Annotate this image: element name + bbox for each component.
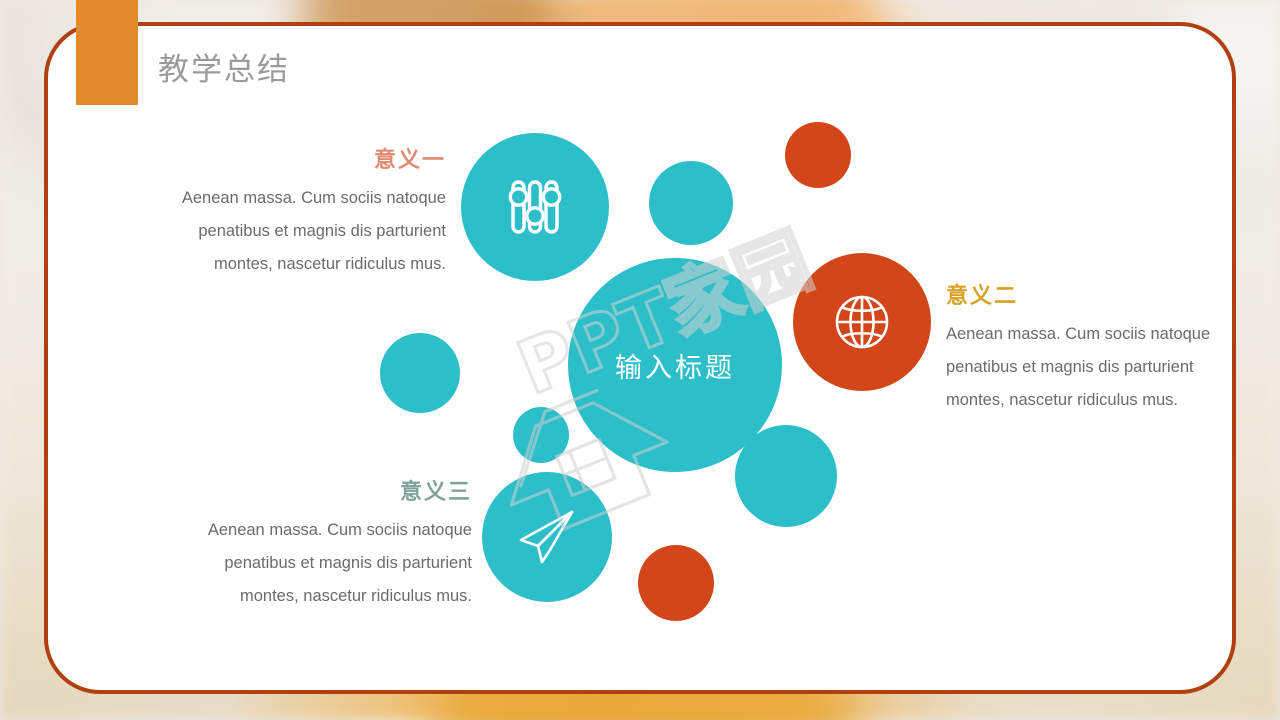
page-title: 教学总结 — [158, 44, 290, 89]
meaning-one-body: Aenean massa. Cum sociis natoque penatib… — [150, 182, 446, 281]
meaning-three-line-3: montes, nascetur ridiculus mus. — [176, 580, 472, 613]
globe-icon-circle[interactable] — [793, 253, 931, 391]
teal-circle-left — [380, 333, 460, 413]
meaning-three-body: Aenean massa. Cum sociis natoque penatib… — [176, 514, 472, 613]
meaning-three-heading: 意义三 — [176, 474, 472, 506]
hub-label: 输入标题 — [615, 346, 735, 385]
globe-icon — [831, 291, 893, 353]
paper-plane-icon-circle[interactable] — [482, 472, 612, 602]
meaning-two-line-3: montes, nascetur ridiculus mus. — [946, 384, 1246, 417]
orange-accent-tab — [76, 0, 138, 105]
teal-circle-top-middle — [649, 161, 733, 245]
orange-circle-bottom — [638, 545, 714, 621]
meaning-one-line-2: penatibus et magnis dis parturient — [150, 215, 446, 248]
teal-circle-small-center — [513, 407, 569, 463]
meaning-three-line-1: Aenean massa. Cum sociis natoque — [176, 514, 472, 547]
meaning-one-line-1: Aenean massa. Cum sociis natoque — [150, 182, 446, 215]
meaning-two-line-1: Aenean massa. Cum sociis natoque — [946, 318, 1246, 351]
sliders-icon — [504, 176, 566, 238]
paper-plane-icon — [516, 508, 578, 566]
meaning-one-line-3: montes, nascetur ridiculus mus. — [150, 248, 446, 281]
orange-circle-top-right — [785, 122, 851, 188]
meaning-one-heading: 意义一 — [150, 142, 446, 174]
meaning-three-block: 意义三 Aenean massa. Cum sociis natoque pen… — [176, 474, 472, 613]
meaning-two-body: Aenean massa. Cum sociis natoque penatib… — [946, 318, 1246, 417]
meaning-two-block: 意义二 Aenean massa. Cum sociis natoque pen… — [946, 278, 1246, 417]
sliders-icon-circle[interactable] — [461, 133, 609, 281]
meaning-two-line-2: penatibus et magnis dis parturient — [946, 351, 1246, 384]
center-hub-circle[interactable]: 输入标题 — [568, 258, 782, 472]
meaning-one-block: 意义一 Aenean massa. Cum sociis natoque pen… — [150, 142, 446, 281]
slide-canvas: 教学总结 — [0, 0, 1280, 720]
meaning-two-heading: 意义二 — [946, 278, 1246, 310]
meaning-three-line-2: penatibus et magnis dis parturient — [176, 547, 472, 580]
